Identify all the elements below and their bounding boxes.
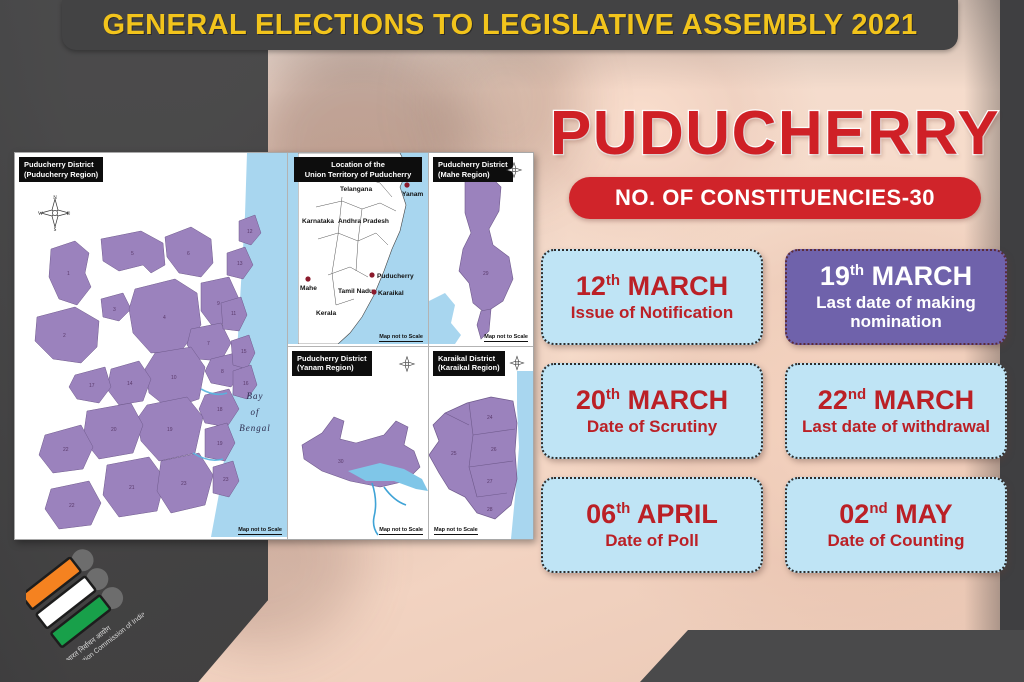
svg-text:21: 21 — [129, 485, 135, 491]
svg-text:16: 16 — [243, 381, 249, 387]
schedule-card-date: 06th APRIL — [586, 500, 718, 528]
panel-label-location: Location of the Union Territory of Puduc… — [294, 157, 422, 182]
schedule-card-day: 12 — [576, 271, 606, 301]
svg-text:Karaikal: Karaikal — [378, 290, 404, 297]
svg-text:14: 14 — [127, 381, 133, 387]
map-panel-mahe[interactable]: 29 Puducherry District (Mahe Region) — [429, 153, 533, 346]
schedule-card-month: MAY — [895, 499, 953, 529]
map-card: 1 5 6 2 3 4 9 7 11 13 12 8 10 15 16 14 1 — [14, 152, 534, 540]
schedule-card-description: Date of Counting — [828, 531, 965, 550]
svg-text:22: 22 — [69, 503, 75, 509]
panel-label-puducherry: Puducherry District (Puducherry Region) — [19, 157, 103, 182]
right-content-column: PUDUCHERRY NO. OF CONSTITUENCIES-30 12th… — [540, 58, 1010, 618]
svg-text:11: 11 — [231, 311, 236, 317]
scale-note-location: Map not to Scale — [379, 334, 423, 342]
compass-rose-icon: N S W E — [37, 195, 73, 231]
schedule-card-day: 19 — [820, 261, 850, 291]
svg-text:29: 29 — [483, 271, 489, 277]
schedule-card-day: 20 — [576, 385, 606, 415]
panel-label-line1: Location of the — [299, 160, 417, 170]
svg-text:E: E — [67, 212, 70, 217]
schedule-card-grid: 12th MARCH Issue of Notification 19th MA… — [541, 249, 1009, 573]
eci-logo: भारत निर्वाचन आयोग Election Commission o… — [26, 548, 144, 660]
schedule-card-ordinal: th — [606, 272, 620, 289]
map-panel-row-bottom: 30 Puducherry District (Yanam Region) — [288, 347, 533, 540]
svg-text:8: 8 — [221, 369, 224, 375]
map-panel-column: Telangana Karnataka Andhra Pradesh Tamil… — [288, 153, 533, 539]
svg-text:4: 4 — [163, 315, 166, 321]
svg-text:5: 5 — [131, 251, 134, 257]
schedule-card-ordinal: nd — [848, 386, 866, 403]
svg-text:20: 20 — [111, 427, 117, 433]
svg-text:24: 24 — [487, 415, 493, 421]
header-banner: GENERAL ELECTIONS TO LEGISLATIVE ASSEMBL… — [62, 0, 958, 50]
infographic-canvas: GENERAL ELECTIONS TO LEGISLATIVE ASSEMBL… — [0, 0, 1024, 682]
schedule-card-poll[interactable]: 06th APRIL Date of Poll — [541, 477, 763, 573]
scale-note-mahe: Map not to Scale — [484, 334, 528, 342]
map-panel-karaikal[interactable]: 24 26 25 27 28 Karaikal District (Karaik… — [429, 347, 533, 540]
bay-of-bengal-label: Bay of Bengal — [227, 389, 283, 436]
svg-text:Telangana: Telangana — [340, 186, 372, 193]
schedule-card-month: MARCH — [874, 385, 975, 415]
svg-text:Tamil Nadu: Tamil Nadu — [338, 288, 373, 295]
schedule-card-description: Last date of withdrawal — [802, 417, 990, 436]
schedule-card-date: 22nd MARCH — [818, 386, 974, 414]
schedule-card-description: Date of Poll — [605, 531, 699, 550]
compass-rose-icon — [396, 353, 418, 375]
constituency-count-badge: NO. OF CONSTITUENCIES-30 — [569, 177, 981, 219]
schedule-card-date: 20th MARCH — [576, 386, 728, 414]
map-panel-yanam[interactable]: 30 Puducherry District (Yanam Region) — [288, 347, 429, 540]
svg-text:Mahe: Mahe — [300, 285, 317, 292]
svg-text:3: 3 — [113, 307, 116, 313]
svg-text:7: 7 — [207, 341, 210, 347]
svg-text:17: 17 — [89, 383, 95, 389]
map-panel-puducherry[interactable]: 1 5 6 2 3 4 9 7 11 13 12 8 10 15 16 14 1 — [15, 153, 288, 539]
scale-note-karaikal: Map not to Scale — [434, 527, 478, 535]
map-panel-row-top: Telangana Karnataka Andhra Pradesh Tamil… — [288, 153, 533, 347]
schedule-card-day: 02 — [839, 499, 869, 529]
panel-label-line1: Karaikal District — [438, 354, 500, 364]
svg-text:10: 10 — [171, 375, 177, 381]
panel-label-line1: Puducherry District — [297, 354, 367, 364]
schedule-card-month: MARCH — [628, 271, 729, 301]
schedule-card-scrutiny[interactable]: 20th MARCH Date of Scrutiny — [541, 363, 763, 459]
page-title: GENERAL ELECTIONS TO LEGISLATIVE ASSEMBL… — [102, 9, 917, 42]
schedule-card-description: Last date of making nomination — [795, 293, 997, 331]
schedule-card-counting[interactable]: 02nd MAY Date of Counting — [785, 477, 1007, 573]
scale-note-puducherry: Map not to Scale — [238, 527, 282, 535]
svg-text:30: 30 — [338, 459, 344, 465]
map-panel-location[interactable]: Telangana Karnataka Andhra Pradesh Tamil… — [288, 153, 429, 346]
schedule-card-description: Date of Scrutiny — [587, 417, 717, 436]
svg-text:W: W — [38, 212, 43, 217]
svg-text:1: 1 — [67, 271, 70, 277]
svg-text:Puducherry: Puducherry — [377, 273, 414, 280]
state-name-title: PUDUCHERRY — [540, 102, 1010, 165]
svg-text:12: 12 — [247, 229, 253, 235]
schedule-card-date: 19th MARCH — [820, 262, 972, 290]
sea-label-line1: Bay — [227, 389, 283, 405]
schedule-card-ordinal: th — [850, 262, 864, 279]
svg-text:Karnataka: Karnataka — [302, 218, 334, 225]
svg-text:28: 28 — [487, 507, 493, 513]
schedule-card-month: APRIL — [637, 499, 718, 529]
panel-label-line1: Puducherry District — [438, 160, 508, 170]
svg-text:Andhra Pradesh: Andhra Pradesh — [338, 218, 389, 225]
schedule-card-day: 22 — [818, 385, 848, 415]
panel-label-line2: (Mahe Region) — [438, 170, 508, 180]
schedule-card-description: Issue of Notification — [571, 303, 733, 322]
panel-label-mahe: Puducherry District (Mahe Region) — [433, 157, 513, 182]
schedule-card-notification[interactable]: 12th MARCH Issue of Notification — [541, 249, 763, 345]
panel-label-line1: Puducherry District — [24, 160, 98, 170]
panel-label-line2: (Yanam Region) — [297, 363, 367, 373]
schedule-card-nomination[interactable]: 19th MARCH Last date of making nominatio… — [785, 249, 1007, 345]
svg-text:2: 2 — [63, 333, 66, 339]
panel-label-yanam: Puducherry District (Yanam Region) — [292, 351, 372, 376]
svg-text:19: 19 — [217, 441, 223, 447]
schedule-card-withdrawal[interactable]: 22nd MARCH Last date of withdrawal — [785, 363, 1007, 459]
schedule-card-date: 12th MARCH — [576, 272, 728, 300]
svg-text:13: 13 — [237, 261, 243, 267]
svg-text:N: N — [53, 196, 57, 201]
svg-text:26: 26 — [491, 447, 497, 453]
panel-label-line2: (Karaikal Region) — [438, 363, 500, 373]
svg-text:15: 15 — [241, 349, 247, 355]
schedule-card-day: 06 — [586, 499, 616, 529]
scale-note-yanam: Map not to Scale — [379, 527, 423, 535]
sea-label-line3: Bengal — [227, 421, 283, 437]
svg-text:23: 23 — [223, 477, 229, 483]
svg-text:27: 27 — [487, 479, 493, 485]
schedule-card-ordinal: nd — [869, 500, 887, 517]
svg-text:9: 9 — [217, 301, 220, 307]
svg-text:6: 6 — [187, 251, 190, 257]
compass-rose-icon — [507, 353, 527, 373]
panel-label-line2: Union Territory of Puducherry — [299, 170, 417, 180]
svg-text:Kerala: Kerala — [316, 310, 336, 317]
sea-label-line2: of — [227, 405, 283, 421]
svg-text:25: 25 — [451, 451, 457, 457]
compass-rose-icon — [503, 159, 525, 181]
schedule-card-month: MARCH — [872, 261, 973, 291]
svg-text:19: 19 — [167, 427, 173, 433]
schedule-card-ordinal: th — [616, 500, 630, 517]
svg-text:23: 23 — [181, 481, 187, 487]
panel-label-karaikal: Karaikal District (Karaikal Region) — [433, 351, 505, 376]
svg-text:22: 22 — [63, 447, 69, 453]
svg-text:18: 18 — [217, 407, 223, 413]
svg-text:S: S — [54, 228, 57, 231]
schedule-card-month: MARCH — [628, 385, 729, 415]
svg-text:Yanam: Yanam — [402, 191, 423, 198]
schedule-card-date: 02nd MAY — [839, 500, 952, 528]
panel-label-line2: (Puducherry Region) — [24, 170, 98, 180]
schedule-card-ordinal: th — [606, 386, 620, 403]
